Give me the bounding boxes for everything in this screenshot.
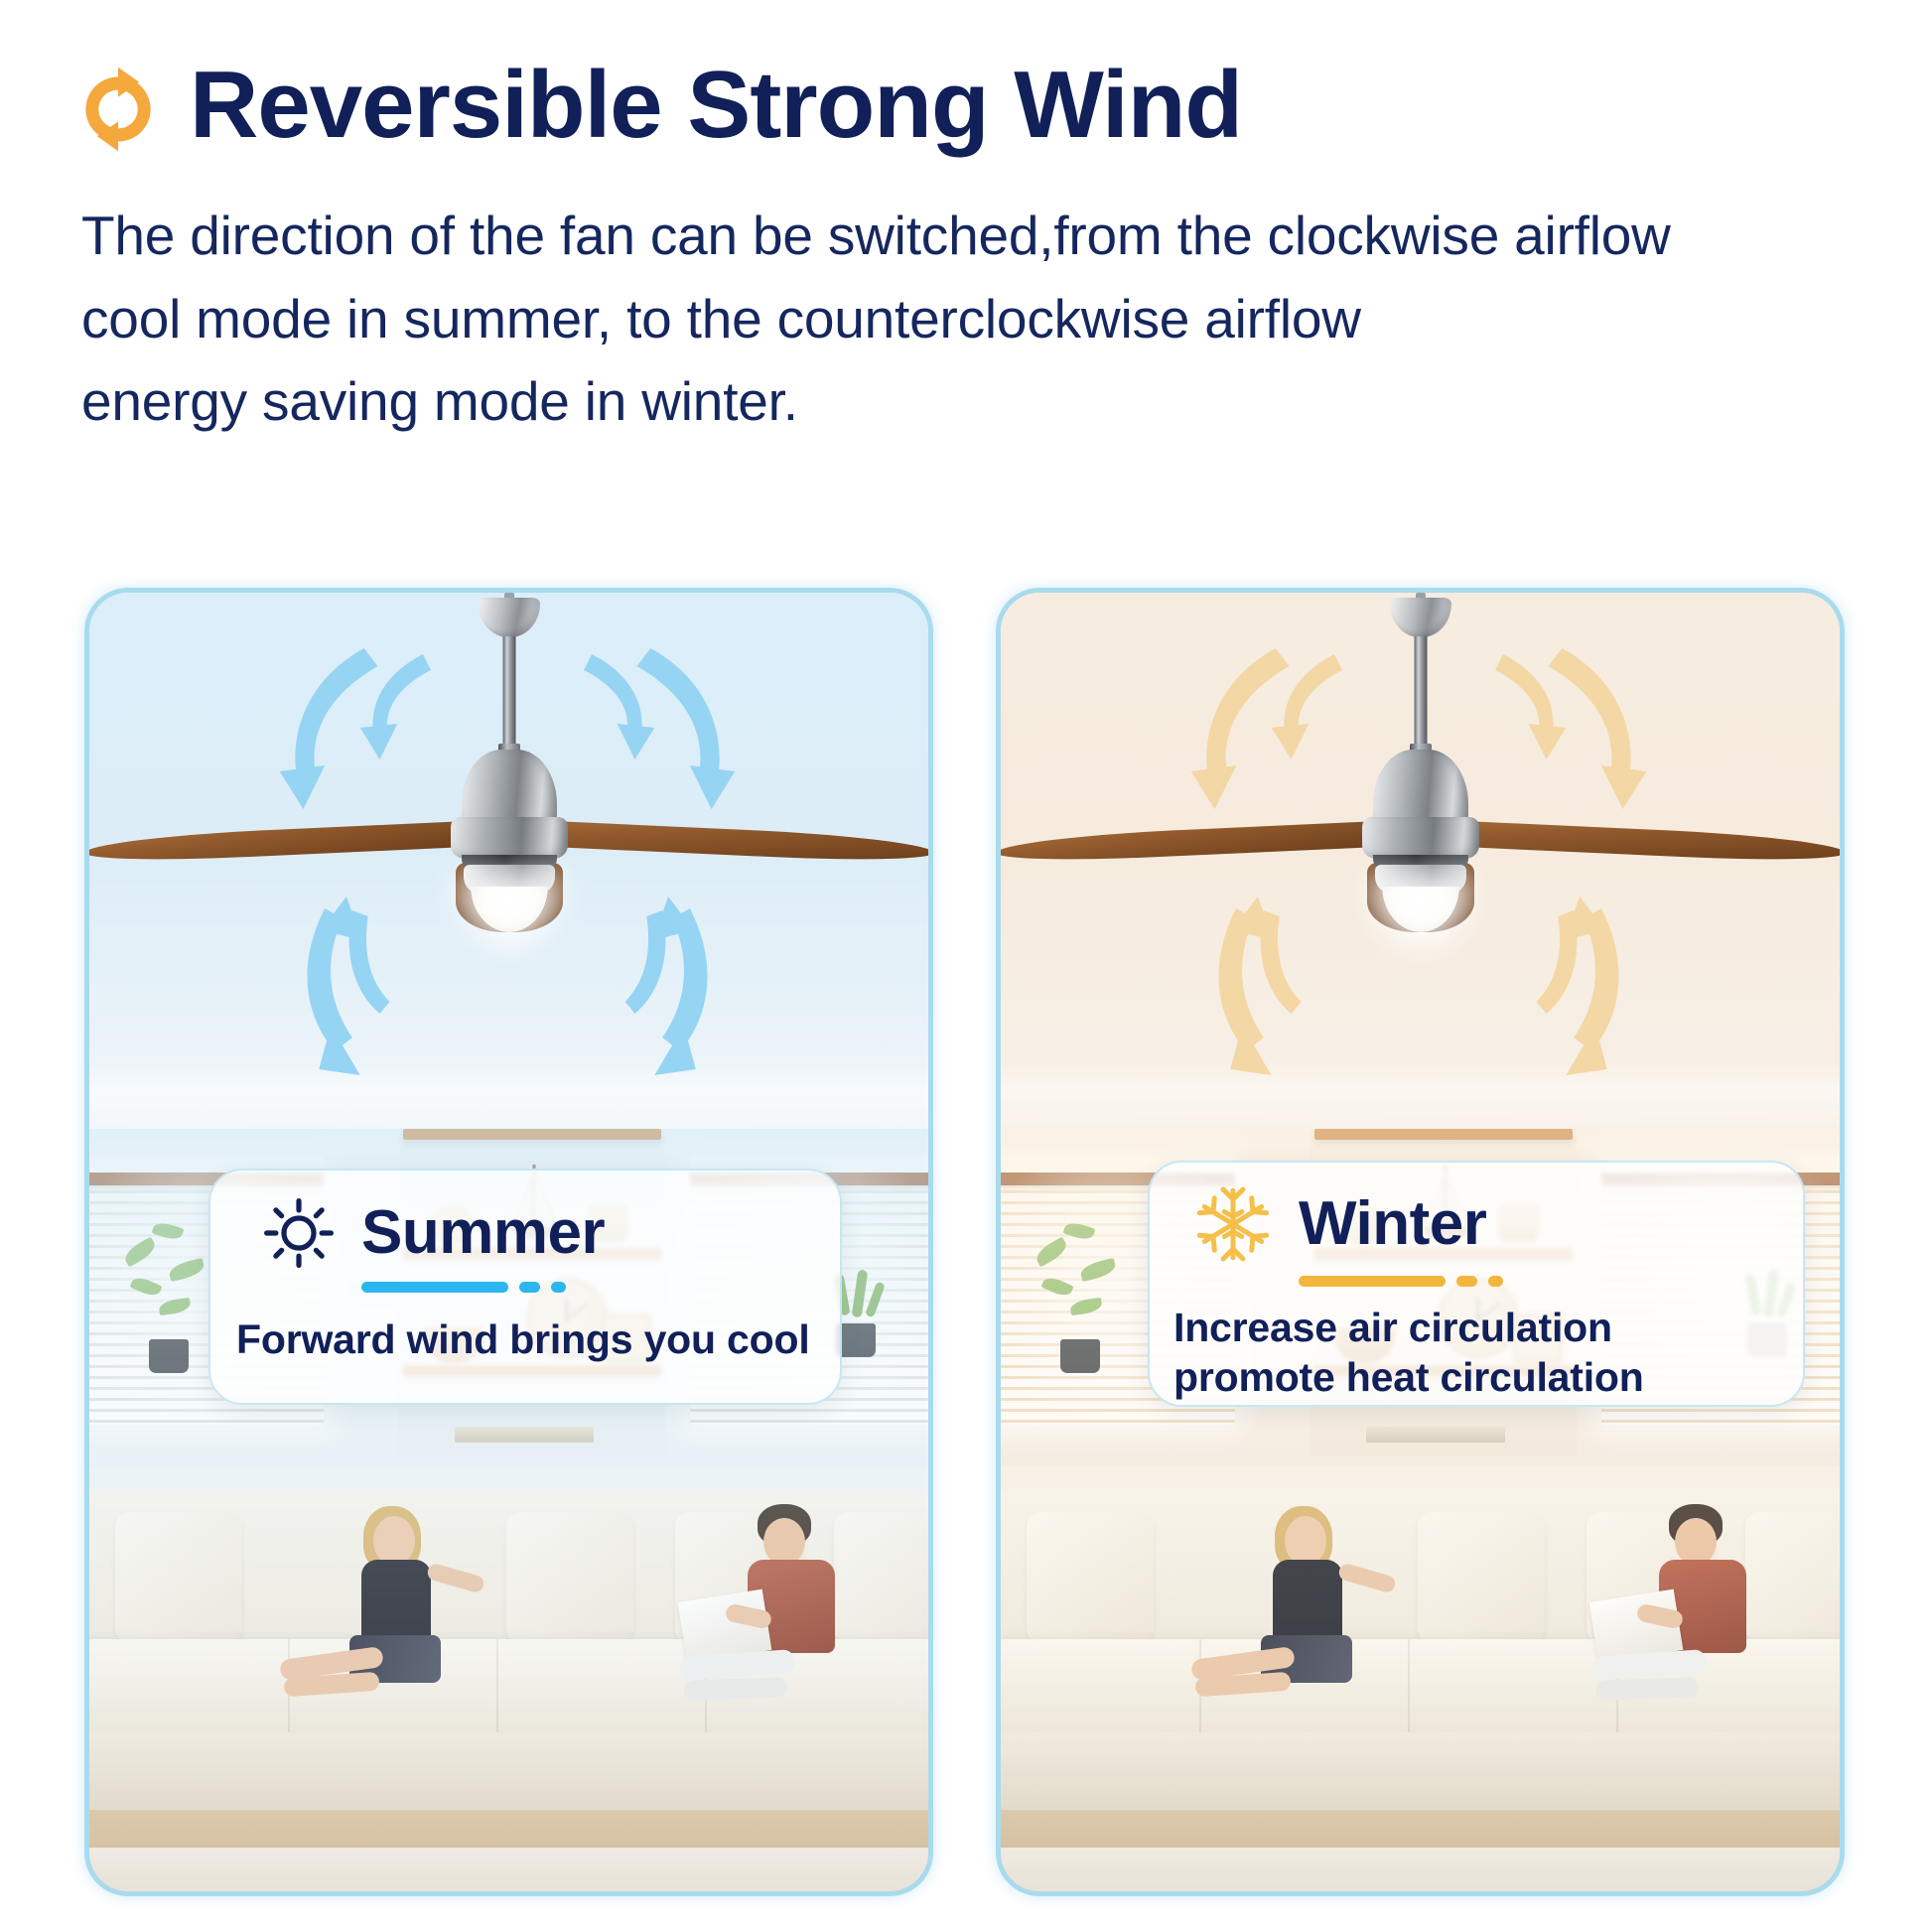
- woman-head: [373, 1516, 415, 1566]
- area-rug: [89, 1848, 928, 1896]
- fan-blade-left: [84, 819, 511, 864]
- plant-leaf: [1079, 1258, 1118, 1282]
- underline-dash: [519, 1282, 540, 1293]
- plant-pot: [1060, 1339, 1100, 1373]
- man-head: [763, 1518, 805, 1566]
- summer-title: Summer: [361, 1202, 605, 1264]
- description-line-1: The direction of the fan can be switched…: [81, 195, 1551, 278]
- fan-hub: [1362, 817, 1479, 859]
- plant-leaf: [152, 1220, 185, 1243]
- description-line-2: cool mode in summer, to the counterclock…: [81, 278, 1551, 361]
- plant-pot: [149, 1339, 189, 1373]
- person-woman: [278, 1504, 506, 1752]
- floor: [1001, 1810, 1840, 1896]
- summer-panel: Summer Forward wind brings you cool: [84, 588, 933, 1896]
- sofa-cushion: [506, 1512, 633, 1643]
- fan-canopy: [1390, 598, 1451, 637]
- plant-leaf: [865, 1282, 886, 1318]
- winter-season-card: Winter Increase air circulation promote …: [1148, 1161, 1805, 1407]
- snowflake-icon: [1193, 1184, 1273, 1264]
- underline-bar: [361, 1282, 508, 1293]
- fan-downrod: [502, 636, 515, 748]
- summer-subtitle: Forward wind brings you cool: [210, 1314, 840, 1364]
- plant-leaf: [158, 1298, 192, 1315]
- underline-dot: [1488, 1276, 1503, 1287]
- fan-downrod: [1414, 636, 1427, 748]
- plant-leaf: [168, 1258, 207, 1282]
- ceiling-fan-winter: [1004, 593, 1838, 891]
- floor: [89, 1810, 928, 1896]
- sofa-cushion: [115, 1512, 242, 1643]
- description-block: The direction of the fan can be switched…: [81, 195, 1551, 444]
- underline-dot: [551, 1282, 566, 1293]
- header: Reversible Strong Wind The direction of …: [0, 0, 1932, 556]
- title-row: Reversible Strong Wind: [74, 58, 1242, 153]
- man-leg: [684, 1677, 788, 1701]
- man-leg: [1595, 1677, 1700, 1701]
- plant-leaf: [1063, 1220, 1096, 1243]
- person-man: [674, 1504, 902, 1752]
- fan-blade-right: [506, 819, 933, 864]
- underline-bar: [1299, 1276, 1446, 1287]
- winter-underline: [1150, 1276, 1803, 1287]
- summer-subtitle-line-1: Forward wind brings you cool: [236, 1314, 840, 1364]
- underline-dash: [1456, 1276, 1477, 1287]
- woman-top: [361, 1560, 431, 1645]
- fan-hub: [451, 817, 568, 859]
- winter-card-head: Winter: [1150, 1184, 1803, 1264]
- ceiling-fan-summer: [92, 593, 926, 891]
- woman-arm: [1337, 1562, 1397, 1593]
- person-woman: [1189, 1504, 1418, 1752]
- plant-leaf: [1069, 1298, 1103, 1315]
- sun-icon: [262, 1196, 336, 1270]
- woman-arm: [426, 1562, 485, 1593]
- plant-leaf: [1040, 1275, 1073, 1300]
- shelf: [403, 1129, 661, 1140]
- plant-leaf: [121, 1237, 158, 1268]
- summer-underline: [210, 1282, 840, 1293]
- winter-subtitle-line-2: promote heat circulation: [1173, 1352, 1803, 1402]
- plant-leaf: [129, 1275, 162, 1300]
- woman-top: [1273, 1560, 1342, 1645]
- plant-pot: [836, 1323, 876, 1357]
- winter-panel: Winter Increase air circulation promote …: [996, 588, 1845, 1896]
- sofa-cushion: [1418, 1512, 1545, 1643]
- man-head: [1675, 1518, 1717, 1566]
- winter-title: Winter: [1299, 1193, 1486, 1255]
- fan-blade-left: [996, 819, 1423, 864]
- shelf: [1314, 1129, 1573, 1140]
- summer-season-card: Summer Forward wind brings you cool: [208, 1169, 842, 1405]
- potted-plant-left: [1021, 1214, 1140, 1373]
- reverse-arrows-icon: [74, 66, 162, 153]
- fan-blade-right: [1418, 819, 1845, 864]
- summer-card-head: Summer: [210, 1196, 840, 1270]
- winter-subtitle-line-1: Increase air circulation: [1173, 1303, 1803, 1352]
- panels-row: Summer Forward wind brings you cool: [0, 588, 1932, 1908]
- winter-subtitle: Increase air circulation promote heat ci…: [1150, 1303, 1803, 1402]
- woman-head: [1285, 1516, 1326, 1566]
- plant-leaf: [1033, 1237, 1069, 1268]
- person-man: [1586, 1504, 1814, 1752]
- page-title: Reversible Strong Wind: [190, 58, 1242, 153]
- area-rug: [1001, 1848, 1840, 1896]
- fan-canopy: [479, 598, 540, 637]
- description-line-3: energy saving mode in winter.: [81, 360, 1551, 444]
- sofa-cushion: [1027, 1512, 1154, 1643]
